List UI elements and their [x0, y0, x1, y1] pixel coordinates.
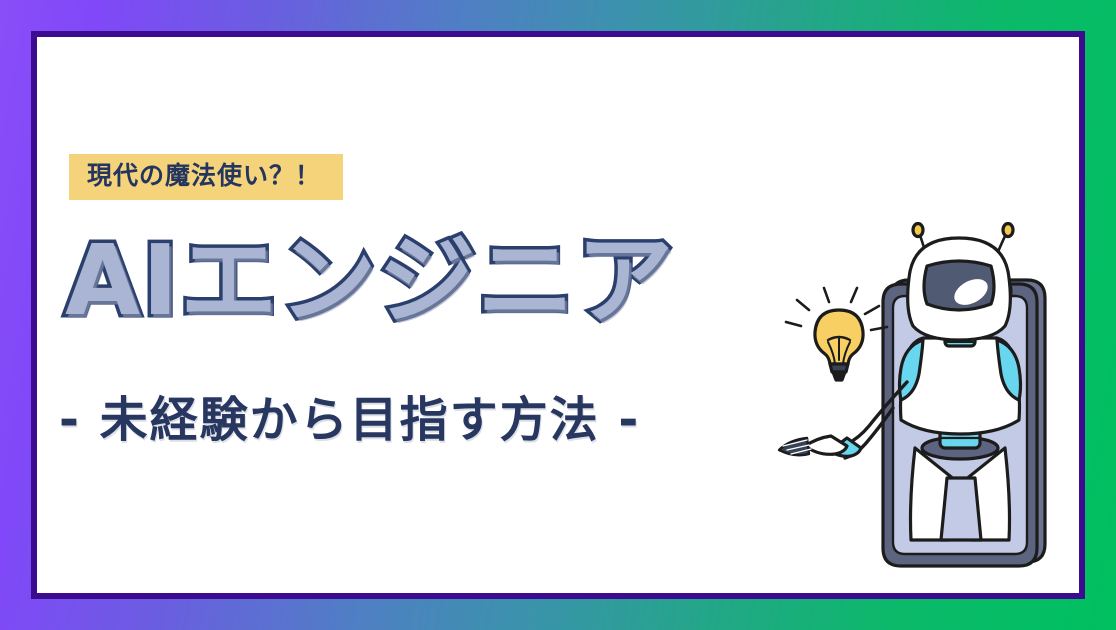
lightbulb-icon — [786, 288, 887, 380]
poster-card: 現代の魔法使い？！ AIエンジニア AIエンジニア - 未経験から目指す方法 - — [37, 37, 1079, 593]
catchphrase-badge-label: 現代の魔法使い？！ — [87, 162, 321, 190]
poster-canvas: 現代の魔法使い？！ AIエンジニア AIエンジニア - 未経験から目指す方法 - — [0, 0, 1116, 630]
subtitle-text: - 未経験から目指す方法 - — [59, 380, 640, 450]
poster-frame: 現代の魔法使い？！ AIエンジニア AIエンジニア - 未経験から目指す方法 - — [31, 31, 1085, 599]
catchphrase-badge: 現代の魔法使い？！ — [69, 154, 343, 200]
main-title-text: AIエンジニア — [65, 232, 675, 329]
robot-illustration — [773, 222, 1073, 602]
